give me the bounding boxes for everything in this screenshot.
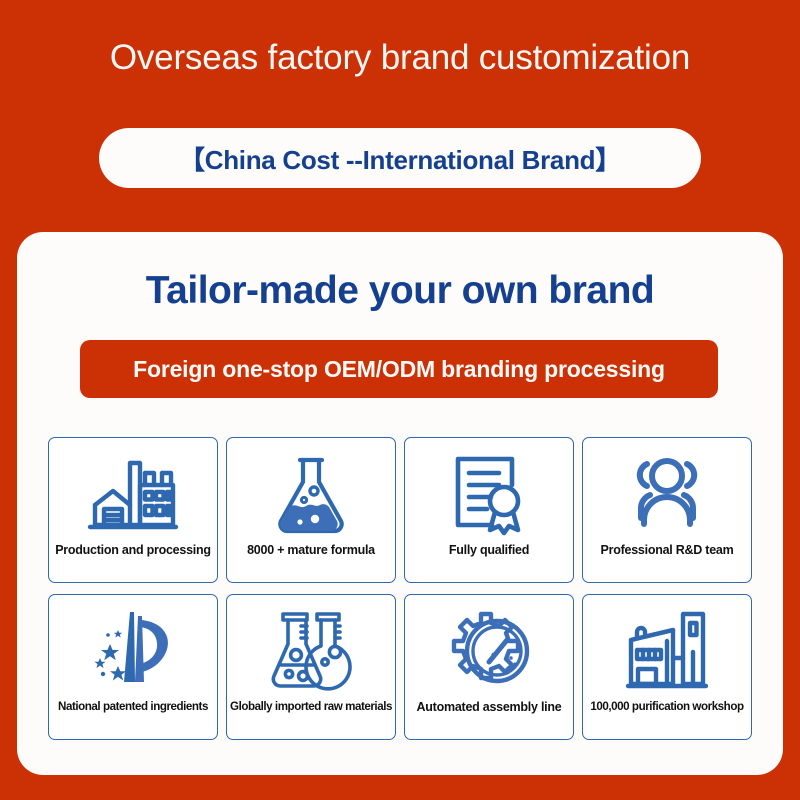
certificate-icon — [448, 446, 530, 542]
feature-label: Fully qualified — [449, 542, 529, 558]
factory-icon — [87, 446, 179, 542]
feature-cell-fully-qualified[interactable]: Fully qualified — [404, 437, 574, 583]
feature-cell-purification-workshop[interactable]: 100,000 purification workshop — [582, 594, 752, 740]
feature-label: Automated assembly line — [417, 699, 562, 715]
feature-label: 8000 + mature formula — [247, 542, 375, 558]
main-heading: Tailor-made your own brand — [17, 268, 783, 314]
feature-label: Professional R&D team — [601, 542, 734, 558]
sub-banner-text: Foreign one-stop OEM/ODM branding proces… — [133, 356, 665, 383]
feature-label: 100,000 purification workshop — [590, 699, 743, 715]
gear-gauge-icon — [445, 603, 533, 699]
main-white-card: Tailor-made your own brand Foreign one-s… — [17, 232, 783, 775]
feature-grid: Production and processing — [48, 437, 752, 740]
hero-pill-banner: 【China Cost --International Brand】 — [99, 128, 701, 188]
feature-row-2: National patented ingredients — [48, 594, 752, 740]
hero-title: Overseas factory brand customization — [0, 36, 800, 80]
feature-cell-imported-raw-materials[interactable]: Globally imported raw materials — [226, 594, 396, 740]
workshop-icon — [623, 603, 711, 699]
feature-cell-patented-ingredients[interactable]: National patented ingredients — [48, 594, 218, 740]
feature-label: Globally imported raw materials — [230, 699, 392, 715]
feature-cell-automated-assembly-line[interactable]: Automated assembly line — [404, 594, 574, 740]
feature-label: Production and processing — [55, 542, 211, 558]
feature-cell-mature-formula[interactable]: 8000 + mature formula — [226, 437, 396, 583]
hero-pill-text: 【China Cost --International Brand】 — [179, 140, 621, 177]
feature-label: National patented ingredients — [58, 699, 208, 715]
feature-cell-production-and-processing[interactable]: Production and processing — [48, 437, 218, 583]
patent-logo-icon — [86, 603, 180, 699]
two-flasks-icon — [265, 603, 357, 699]
sub-banner: Foreign one-stop OEM/ODM branding proces… — [80, 340, 718, 398]
team-icon — [621, 446, 713, 542]
flask-icon — [271, 446, 351, 542]
feature-row-1: Production and processing — [48, 437, 752, 583]
feature-cell-rd-team[interactable]: Professional R&D team — [582, 437, 752, 583]
poster-root: Overseas factory brand customization 【Ch… — [0, 0, 800, 800]
